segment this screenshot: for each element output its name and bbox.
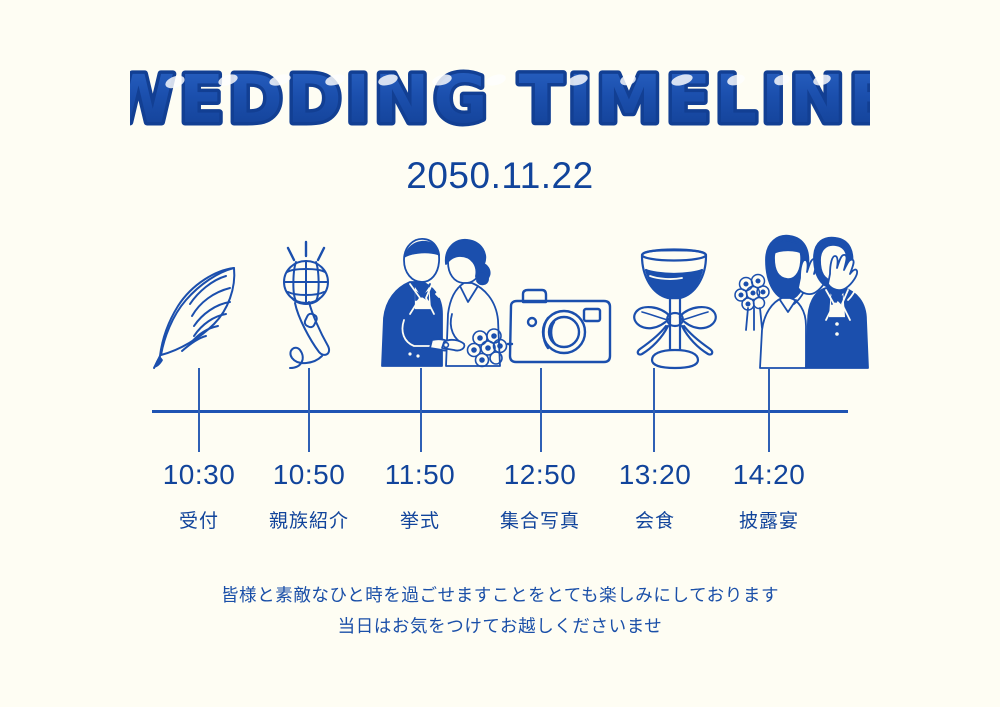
- icon-cell-5: [622, 246, 726, 370]
- timeline-entry-6: 14:20 披露宴: [689, 460, 849, 534]
- icon-cell-6: [732, 234, 872, 370]
- icon-row: [152, 228, 852, 370]
- wedding-date: 2050.11.22: [0, 155, 1000, 197]
- timeline-tick-6: [768, 368, 770, 452]
- timeline-horizontal-line: [152, 410, 848, 413]
- page-title: WEDDING TIMELINE: [0, 62, 1000, 138]
- feather-quill-icon: [152, 258, 244, 370]
- waving-couple-bouquet-icon: [732, 234, 872, 370]
- timeline-tick-1: [198, 368, 200, 452]
- icon-cell-3: [370, 234, 510, 370]
- microphone-icon: [262, 240, 354, 370]
- title-text: WEDDING TIMELINE: [130, 62, 870, 138]
- timeline-axis: [0, 366, 1000, 458]
- timeline-tick-3: [420, 368, 422, 452]
- timeline-labels: 10:30 受付 10:50 親族紹介 11:50 挙式 12:50 集合写真 …: [0, 460, 1000, 550]
- title-bubble-text: WEDDING TIMELINE: [130, 62, 870, 138]
- icon-cell-1: [152, 258, 244, 370]
- timeline-tick-5: [653, 368, 655, 452]
- icon-cell-2: [262, 240, 354, 370]
- wine-glass-ribbon-icon: [622, 246, 726, 370]
- footer-line-1: 皆様と素敵なひと時を過ごせますことをとても楽しみにしております: [0, 580, 1000, 611]
- ring-exchange-couple-icon: [370, 234, 510, 370]
- timeline-time-6: 14:20: [689, 460, 849, 491]
- wedding-timeline-poster: WEDDING TIMELINE 2050.11.22: [0, 0, 1000, 707]
- timeline-tick-4: [540, 368, 542, 452]
- icon-cell-4: [504, 284, 616, 370]
- footer-line-2: 当日はお気をつけてお越しくださいませ: [0, 611, 1000, 642]
- timeline-tick-2: [308, 368, 310, 452]
- camera-icon: [504, 284, 616, 370]
- footer-message: 皆様と素敵なひと時を過ごせますことをとても楽しみにしております 当日はお気をつけ…: [0, 580, 1000, 641]
- timeline-name-6: 披露宴: [689, 511, 849, 534]
